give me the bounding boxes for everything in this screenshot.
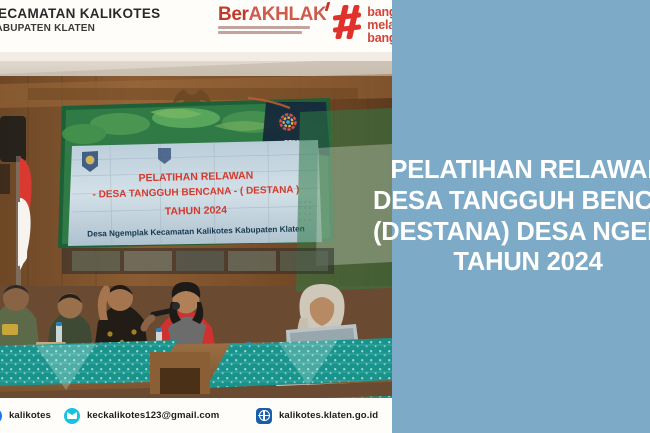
berakhlak-tagline-icon [218,26,326,34]
banner-title-line-3: TAHUN 2024 [165,204,228,218]
event-photo-graphic: DESA PELATIH [0,52,392,398]
title-line-3: (DESTANA) DESA NGEMPLAK [373,217,650,248]
globe-icon [256,408,272,424]
footer-item-facebook[interactable]: f kalikotes [0,408,51,424]
mail-icon [64,408,80,424]
footer-item-email[interactable]: keckalikotes123@gmail.com [64,408,219,424]
poster-footer: f kalikotes keckalikotes123@gmail.com ka… [0,398,392,433]
poster-title: PELATIHAN RELAWAN DESA TANGGUH BENCANA (… [373,155,650,277]
berakhlak-main: AKHLAK [248,4,326,25]
header-line-1: KECAMATAN KALIKOTES [0,6,160,21]
footer-email-label: keckalikotes123@gmail.com [87,410,219,421]
header-line-2: KABUPATEN KLATEN [0,23,160,34]
poster-canvas: KECAMATAN KALIKOTES KABUPATEN KLATEN Ber… [0,0,650,433]
facebook-icon: f [0,408,2,424]
berakhlak-wordmark: BerAKHLAK [218,5,330,36]
berakhlak-logo: BerAKHLAK bangga melayani bangsa [218,5,419,45]
hashtag-icon [332,5,362,39]
header-institution: KECAMATAN KALIKOTES KABUPATEN KLATEN [0,6,160,34]
title-line-4: TAHUN 2024 [373,247,650,278]
berakhlak-prefix: Ber [218,4,248,25]
footer-website-label: kalikotes.klaten.go.id [279,410,378,421]
title-line-2: DESA TANGGUH BENCANA [373,186,650,217]
berakhlak-text: BerAKHLAK [218,5,326,24]
title-line-1: PELATIHAN RELAWAN [373,155,650,186]
title-panel: PELATIHAN RELAWAN DESA TANGGUH BENCANA (… [392,0,650,433]
berakhlak-apostrophe-icon [325,2,331,11]
event-photo: DESA PELATIH [0,52,392,398]
footer-facebook-label: kalikotes [9,410,51,421]
poster-header: KECAMATAN KALIKOTES KABUPATEN KLATEN Ber… [0,0,392,52]
footer-item-website[interactable]: kalikotes.klaten.go.id [256,408,378,424]
